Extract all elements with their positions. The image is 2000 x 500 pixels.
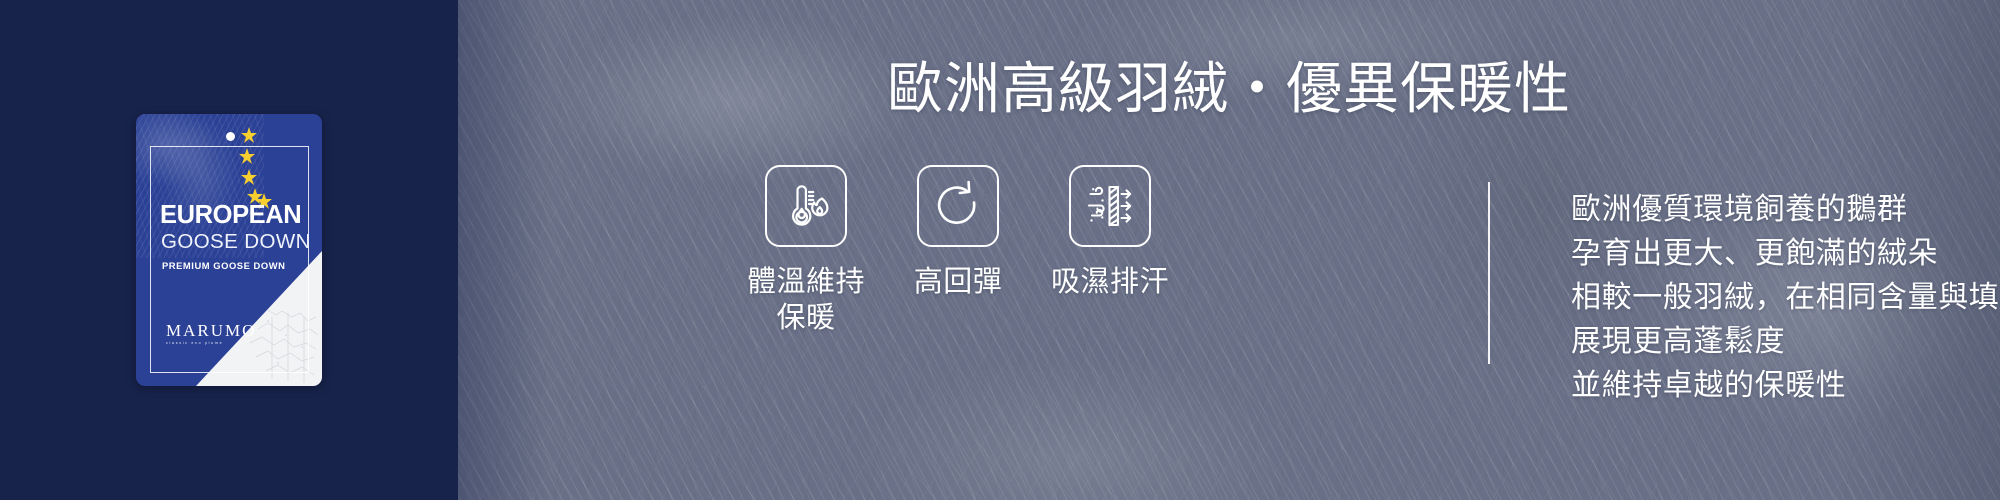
feature-item-rebound: 高回彈 xyxy=(882,165,1034,300)
marumo-logo: MARUMO classic eco plume xyxy=(166,322,256,346)
moisture-wicking-icon xyxy=(1069,165,1151,247)
banner-headline: 歐洲高級羽絨・優異保暖性 xyxy=(634,58,1824,121)
right-feather-panel: 歐洲高級羽絨・優異保暖性 體溫維持 保暖 xyxy=(458,0,2000,500)
banner-content: 歐洲高級羽絨・優異保暖性 體溫維持 保暖 xyxy=(458,0,2000,500)
left-navy-panel: EUROPEAN GOOSE DOWN PREMIUM GOOSE DOWN M… xyxy=(0,0,458,500)
marumo-brand-name: MARUMO xyxy=(166,322,256,339)
description-line-5: 並維持卓越的保暖性 xyxy=(1571,364,2000,408)
feature-label-rebound: 高回彈 xyxy=(914,264,1003,300)
feature-item-moisture: 吸濕排汗 xyxy=(1034,165,1186,300)
product-feature-banner: EUROPEAN GOOSE DOWN PREMIUM GOOSE DOWN M… xyxy=(0,0,2000,500)
vertical-divider xyxy=(1488,182,1490,364)
feature-item-temperature: 體溫維持 保暖 xyxy=(730,165,882,337)
description-line-2: 孕育出更大、更飽滿的絨朵 xyxy=(1571,232,2000,276)
tag-caption: PREMIUM GOOSE DOWN xyxy=(162,261,285,270)
description-line-1: 歐洲優質環境飼養的鵝群 xyxy=(1571,188,2000,232)
description-line-4: 展現更高蓬鬆度 xyxy=(1571,320,2000,364)
description-block: 歐洲優質環境飼養的鵝群 孕育出更大、更飽滿的絨朵 相較一般羽絨，在相同含量與填充… xyxy=(1571,188,2000,408)
tag-subtitle: GOOSE DOWN xyxy=(161,232,311,253)
marumo-brand-tagline: classic eco plume xyxy=(166,342,256,346)
feature-list: 體溫維持 保暖 高回彈 xyxy=(458,165,1458,337)
tag-punch-hole-icon xyxy=(226,132,235,141)
feature-label-temperature: 體溫維持 保暖 xyxy=(747,264,865,337)
feature-label-moisture: 吸濕排汗 xyxy=(1051,264,1169,300)
thermometer-flame-icon xyxy=(765,165,847,247)
european-goose-down-hangtag: EUROPEAN GOOSE DOWN PREMIUM GOOSE DOWN M… xyxy=(136,114,322,386)
tag-title: EUROPEAN xyxy=(160,203,301,229)
description-line-3: 相較一般羽絨，在相同含量與填充量下 xyxy=(1571,276,2000,320)
circular-arrow-rebound-icon xyxy=(917,165,999,247)
